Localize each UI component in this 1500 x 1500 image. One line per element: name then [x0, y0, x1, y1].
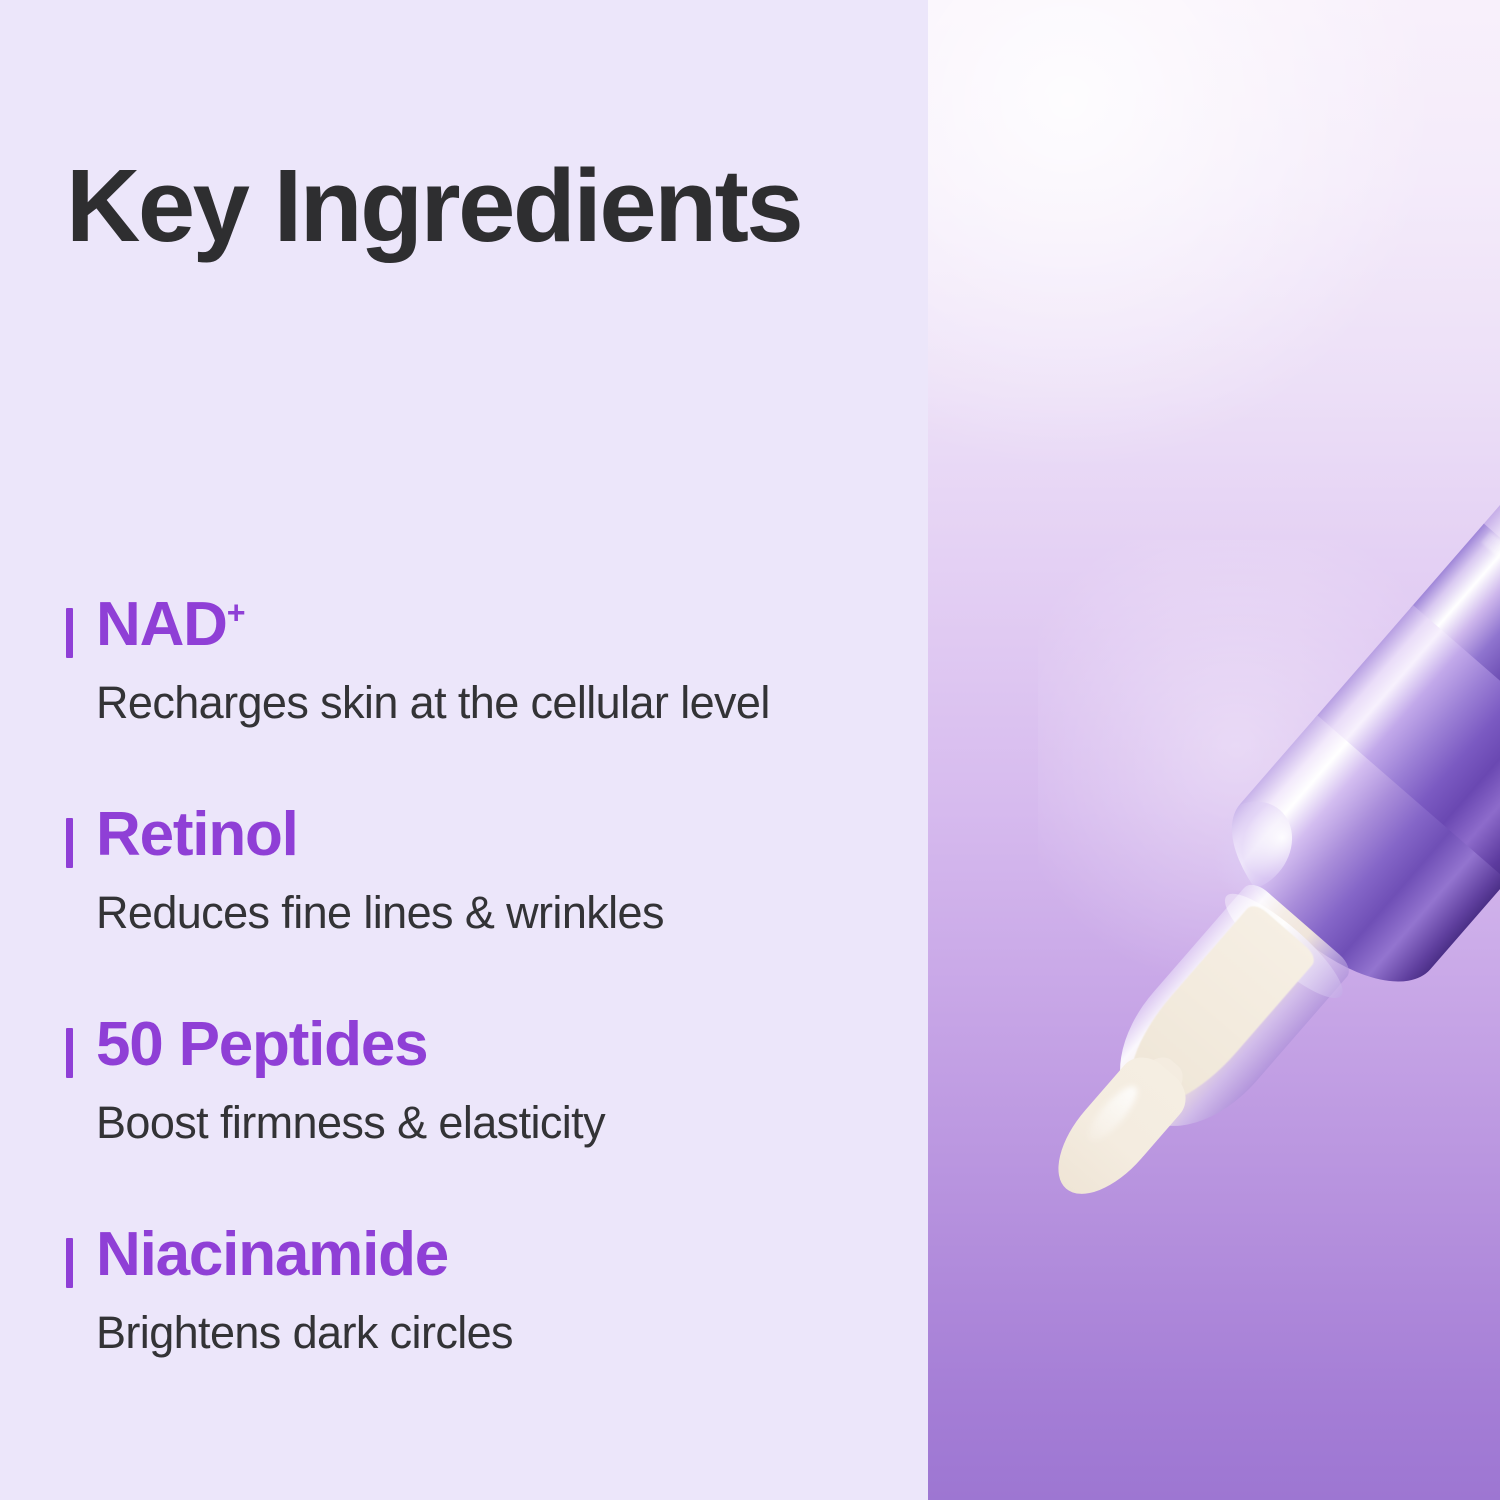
key-ingredients-graphic: Key Ingredients NAD+ Recharges skin at t…	[0, 0, 1500, 1500]
accent-bar-icon	[66, 1238, 73, 1288]
list-item: Retinol Reduces fine lines & wrinkles	[0, 802, 928, 1012]
product-image-panel: numbuzin NAD+ R	[928, 0, 1500, 1500]
ingredient-list: NAD+ Recharges skin at the cellular leve…	[0, 592, 928, 1432]
text-panel: Key Ingredients NAD+ Recharges skin at t…	[0, 0, 928, 1500]
ingredient-name: 50 Peptides	[96, 1012, 427, 1077]
ingredient-name: Niacinamide	[96, 1222, 448, 1287]
ingredient-description: Brightens dark circles	[96, 1308, 513, 1358]
ingredient-name-text: Retinol	[96, 800, 298, 869]
background-bloom	[928, 0, 1488, 520]
list-item: NAD+ Recharges skin at the cellular leve…	[0, 592, 928, 802]
ingredient-name: NAD+	[96, 592, 244, 657]
list-item: Niacinamide Brightens dark circles	[0, 1222, 928, 1432]
page-title: Key Ingredients	[66, 152, 801, 260]
ingredient-description: Recharges skin at the cellular level	[96, 678, 770, 728]
ingredient-description: Reduces fine lines & wrinkles	[96, 888, 664, 938]
ingredient-name-text: NAD	[96, 590, 227, 659]
ingredient-superscript: +	[227, 594, 245, 630]
list-item: 50 Peptides Boost firmness & elasticity	[0, 1012, 928, 1222]
product-pen-applicator: numbuzin NAD+ R	[1173, 0, 1500, 1047]
accent-bar-icon	[66, 1028, 73, 1078]
ingredient-name-text: 50 Peptides	[96, 1010, 427, 1079]
accent-bar-icon	[66, 608, 73, 658]
ingredient-name-text: Niacinamide	[96, 1220, 448, 1289]
ingredient-name: Retinol	[96, 802, 298, 867]
accent-bar-icon	[66, 818, 73, 868]
ingredient-description: Boost firmness & elasticity	[96, 1098, 605, 1148]
